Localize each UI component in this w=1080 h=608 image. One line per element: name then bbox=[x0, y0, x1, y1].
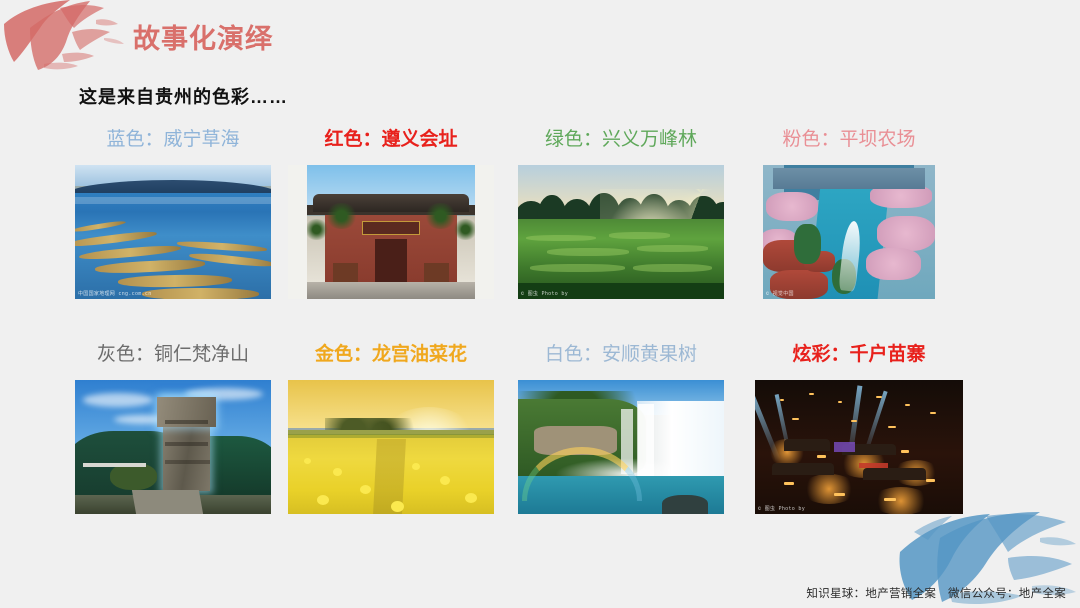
gallery-label-longgong: 金色：龙宫油菜花 bbox=[288, 339, 494, 366]
footer-text: 知识星球：地产营销全案 微信公众号：地产全案 bbox=[806, 585, 1066, 601]
pingba-farm-cherry-blossom-photo[interactable]: © 视觉中国 bbox=[763, 165, 935, 299]
qianhu-miao-village-night-photo[interactable]: © 图虫 Photo by bbox=[755, 380, 963, 514]
huangguoshu-waterfall-photo[interactable] bbox=[518, 380, 724, 514]
photo-watermark: © 图虫 Photo by bbox=[758, 505, 805, 512]
photo-watermark: © 视觉中国 bbox=[766, 290, 794, 297]
gallery-label-pingba: 粉色：平坝农场 bbox=[763, 124, 935, 151]
photo-watermark: 中国国家地理网 cng.com.cn bbox=[78, 290, 152, 297]
gallery-label-wanfenglin: 绿色：兴义万峰林 bbox=[518, 124, 724, 151]
zunyi-conference-site-photo[interactable] bbox=[288, 165, 494, 299]
gallery-label-caohai: 蓝色：威宁草海 bbox=[75, 124, 271, 151]
fanjingshan-mushroom-rock-photo[interactable] bbox=[75, 380, 271, 514]
gallery-label-fanjingshan: 灰色：铜仁梵净山 bbox=[75, 339, 271, 366]
color-gallery-grid: 蓝色：威宁草海 中国国家地理网 cng.com.cn 红色：遵义会址 bbox=[0, 0, 1080, 608]
wanfenglin-fields-photo[interactable]: © 图虫 Photo by bbox=[518, 165, 724, 299]
longgong-rapeseed-flowers-photo[interactable] bbox=[288, 380, 494, 514]
caohai-lake-photo[interactable]: 中国国家地理网 cng.com.cn bbox=[75, 165, 271, 299]
gallery-label-zunyi: 红色：遵义会址 bbox=[288, 124, 494, 151]
photo-watermark: © 图虫 Photo by bbox=[521, 290, 568, 297]
gallery-label-huangguoshu: 白色：安顺黄果树 bbox=[518, 339, 724, 366]
gallery-label-qianhu: 炫彩：千户苗寨 bbox=[755, 339, 963, 366]
